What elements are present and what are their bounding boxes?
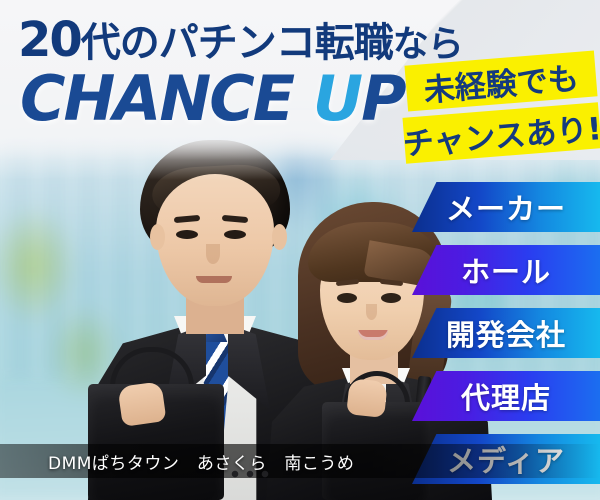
page-title: 20代のパチンコ転職なら: [18, 16, 463, 64]
man-nose: [206, 244, 220, 264]
woman-eye-left: [337, 293, 357, 303]
category-button-hall[interactable]: ホール: [412, 245, 600, 295]
man-hand: [117, 381, 166, 427]
headline-tail: なら: [393, 24, 463, 65]
logo-u-letter: U: [313, 62, 361, 135]
logo-p-letter: P: [361, 62, 404, 135]
man-eye-left: [176, 230, 198, 239]
man-mouth: [196, 276, 232, 283]
promo-banner: 20代のパチンコ転職なら CHANCE UP 未経験でも チャンスあり! メーカ…: [0, 0, 600, 500]
category-button-agency[interactable]: 代理店: [412, 371, 600, 421]
woman-nose: [366, 304, 377, 320]
chance-up-logo: CHANCE UP: [20, 68, 405, 130]
man-ear-left: [150, 224, 165, 250]
headline-main: 代のパチンコ転職: [81, 20, 393, 66]
logo-chance-text: CHANCE: [20, 62, 293, 135]
man-eye-right: [224, 230, 246, 239]
woman-eye-right: [381, 293, 401, 303]
credit-text: DMMぱちタウン あさくら 南こうめ: [48, 449, 354, 474]
man-face: [156, 174, 274, 306]
woman-hand: [346, 378, 388, 418]
category-button-maker[interactable]: メーカー: [412, 182, 600, 232]
headline-number: 20: [18, 12, 81, 68]
category-button-developer[interactable]: 開発会社: [412, 308, 600, 358]
